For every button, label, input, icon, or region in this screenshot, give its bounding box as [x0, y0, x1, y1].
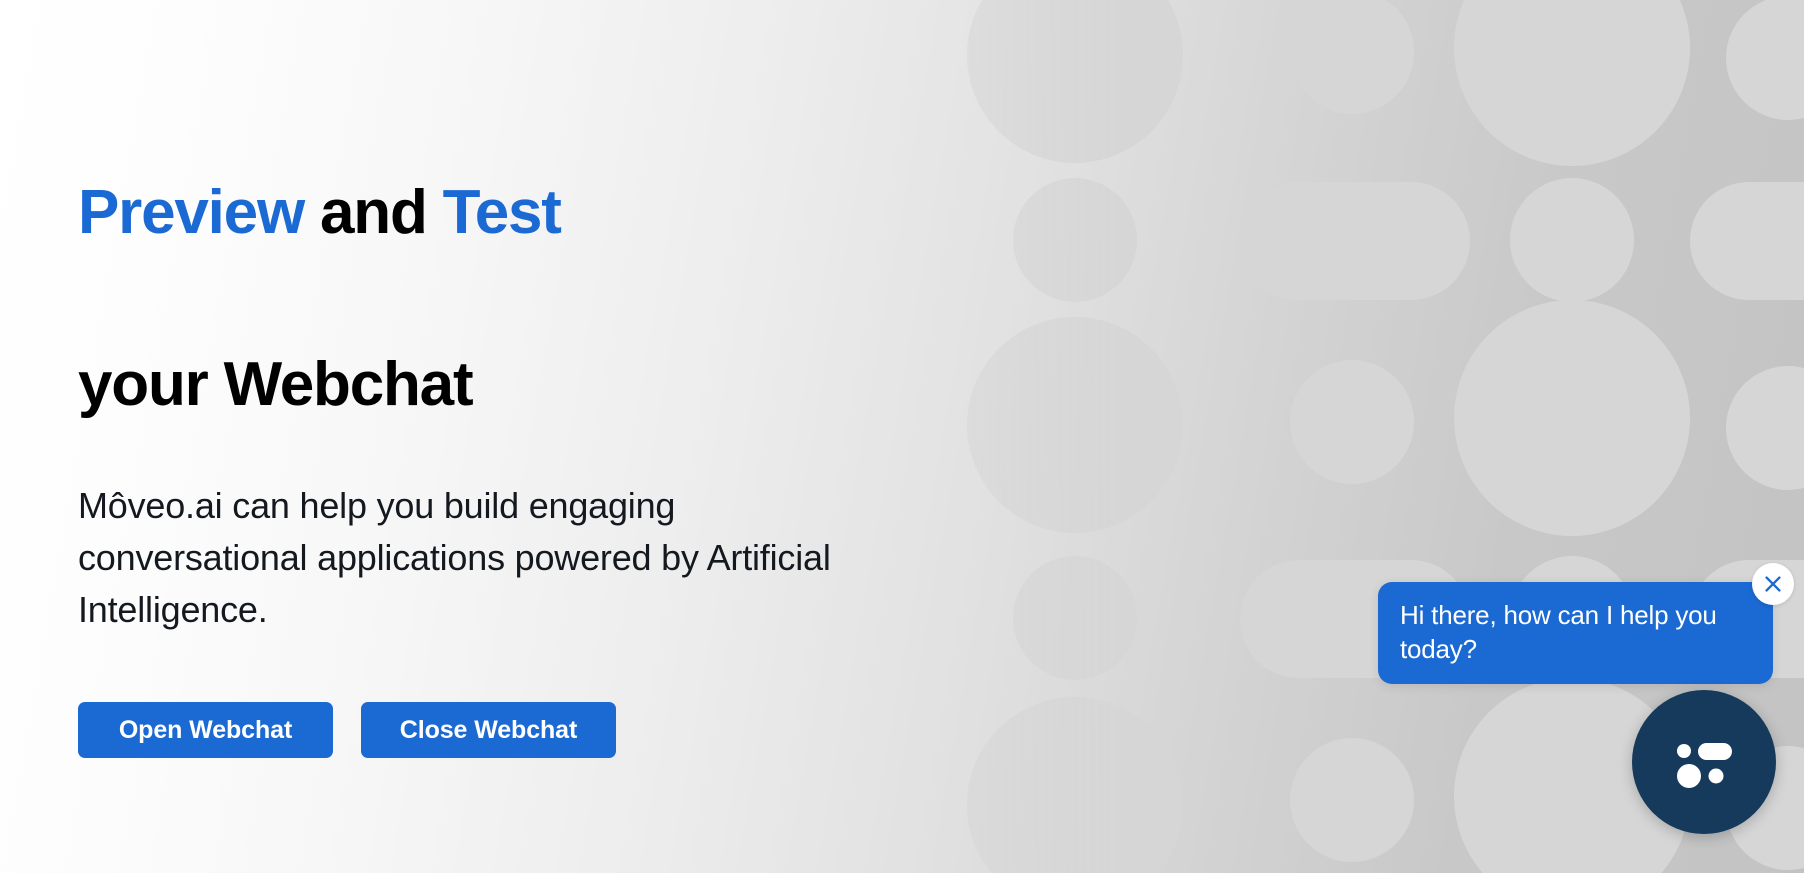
close-webchat-button[interactable]: Close Webchat	[361, 702, 616, 758]
page-title-accent-test: Test	[443, 178, 561, 247]
page-title-conjunction: and	[304, 178, 443, 247]
webchat-greeting-bubble[interactable]: Hi there, how can I help you today?	[1378, 582, 1773, 684]
page-title-line2: your Webchat	[78, 350, 472, 419]
open-webchat-button[interactable]: Open Webchat	[78, 702, 333, 758]
page-subtitle: Môveo.ai can help you build engaging con…	[78, 480, 888, 636]
webchat-launcher-button[interactable]	[1632, 690, 1776, 834]
close-x-icon	[1762, 573, 1784, 595]
webchat-greeting-close-button[interactable]	[1752, 563, 1794, 605]
hero-action-buttons: Open Webchat Close Webchat	[78, 702, 978, 758]
moveo-logo-icon	[1672, 735, 1736, 789]
hero-section: Preview and Test your Webchat Môveo.ai c…	[78, 84, 978, 758]
page-title: Preview and Test your Webchat	[78, 84, 978, 428]
page-title-accent-preview: Preview	[78, 178, 304, 247]
